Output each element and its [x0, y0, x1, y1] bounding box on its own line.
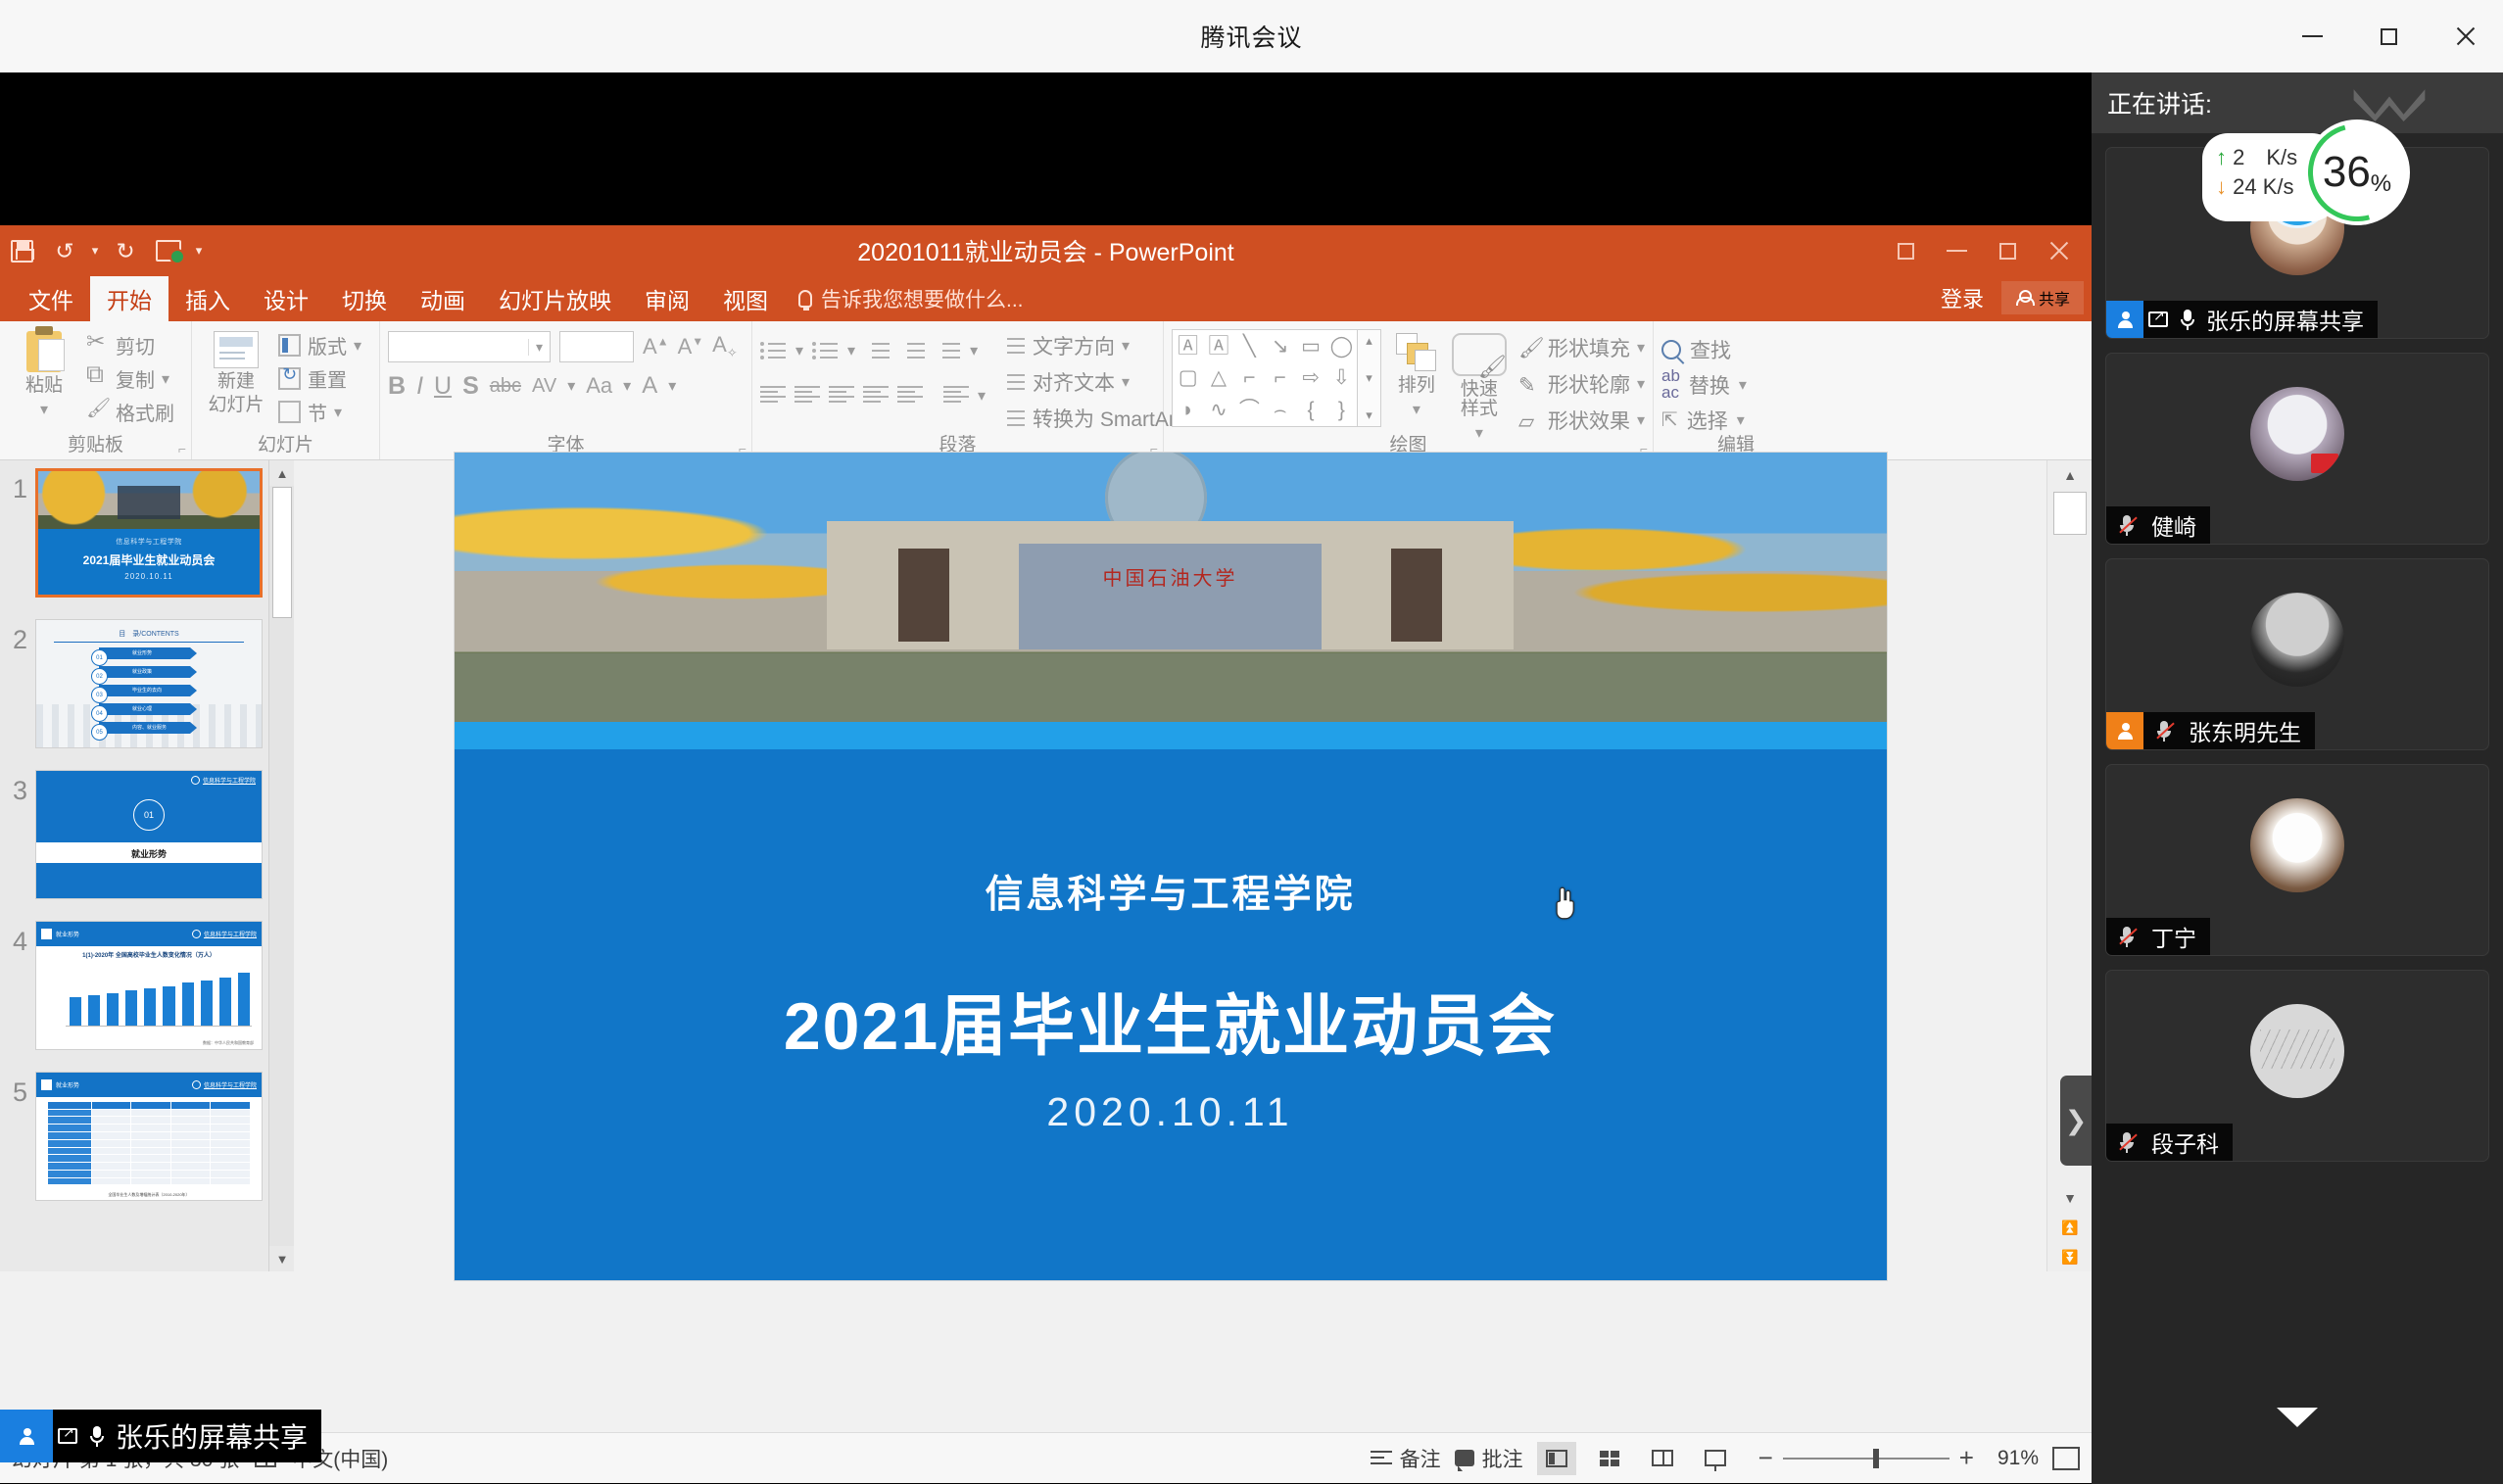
scrollbar-thumb[interactable]: [2053, 492, 2087, 535]
tell-me-search[interactable]: 告诉我您想要做什么...: [785, 276, 1037, 321]
participant-name: 段子科: [2147, 1125, 2233, 1159]
shape-vertical-textbox-icon[interactable]: 🄰: [1208, 336, 1228, 357]
cursor-icon: ⇱: [1661, 407, 1678, 432]
increase-font-size-button[interactable]: A▲: [643, 334, 669, 359]
close-icon: [2047, 240, 2069, 262]
host-badge: [2106, 301, 2143, 338]
ribbon-group-editing: 查找 abac 替换 ▾ ⇱ 选择 ▾: [1654, 321, 1818, 459]
arrange-button[interactable]: 排列 ▾: [1393, 329, 1440, 419]
maximize-button[interactable]: [2350, 0, 2427, 72]
person-add-icon: [2015, 290, 2031, 306]
layout-icon: [278, 334, 301, 357]
chevron-up-icon: ▲: [276, 466, 289, 481]
microphone-muted-icon: [2157, 721, 2171, 742]
save-button[interactable]: [0, 225, 43, 276]
section-label: 节: [308, 398, 327, 426]
chevron-down-icon[interactable]: ▾: [978, 386, 986, 406]
font-color-button[interactable]: A: [642, 372, 657, 400]
section-caption: 就业形势: [36, 847, 262, 860]
bar: [219, 978, 231, 1026]
thumbnail-slide-1[interactable]: 信息科学与工程学院 2021届毕业生就业动员会 2020.10.11: [35, 468, 263, 598]
tab-animations[interactable]: 动画: [404, 276, 482, 321]
line-spacing-icon[interactable]: [935, 340, 961, 362]
chevron-down-icon: [2277, 1408, 2318, 1427]
ring-icon: [192, 930, 201, 938]
decrease-indent-icon[interactable]: [864, 340, 890, 362]
zoom-handle[interactable]: [1873, 1449, 1879, 1468]
share-label: 共享: [2039, 286, 2070, 310]
scroll-up-button[interactable]: ▲: [2047, 460, 2092, 490]
decrease-font-size-button[interactable]: A▼: [678, 334, 704, 359]
find-button[interactable]: 查找: [1661, 333, 1747, 365]
mic-indicator: [2106, 515, 2147, 536]
microphone-muted-icon: [2120, 1132, 2134, 1153]
participant-namebar: 张乐的屏幕共享: [2106, 301, 2378, 338]
chevron-down-icon[interactable]: ▾: [567, 376, 575, 396]
font-name-input[interactable]: ▾: [388, 331, 551, 362]
agenda-bar: 就业形势: [99, 647, 197, 659]
fit-to-window-button[interactable]: [2052, 1447, 2080, 1470]
bar: [201, 981, 213, 1027]
ring-icon: [191, 776, 200, 785]
shape-down-arrow-icon[interactable]: ⇩: [1333, 367, 1351, 388]
thumbnail-row-1[interactable]: 1 信息科学与工程学院 2021届毕业生就业动员会 2020.10.11: [0, 460, 294, 598]
character-spacing-button[interactable]: AV: [532, 375, 556, 398]
quick-styles-label: 快速样式: [1452, 380, 1507, 419]
chevron-down-icon[interactable]: ▾: [795, 341, 803, 360]
align-center-icon[interactable]: [794, 385, 820, 407]
chart-title: 1(1)-2020年 全国高校毕业生人数变化情况（万人）: [36, 950, 262, 959]
thumbnail-row-5[interactable]: 5 就业形势 信息科学与工程学院: [0, 1050, 294, 1201]
window-controls: [2274, 0, 2503, 72]
scrollbar-thumb[interactable]: [272, 487, 292, 618]
ppt-minimize-button[interactable]: [1931, 225, 1982, 276]
shapes-gallery-scroll[interactable]: ▴ ▾ ▾: [1358, 329, 1381, 427]
bar: [238, 973, 250, 1027]
scroll-bottom-buttons[interactable]: ▼ ⏫ ⏬: [2047, 1183, 2092, 1271]
replace-label: 替换: [1689, 370, 1730, 400]
columns-icon[interactable]: [943, 385, 969, 407]
participant-tile-2[interactable]: 健崎: [2105, 353, 2489, 545]
thumbnail-number: 5: [6, 1072, 27, 1108]
ribbon-display-options-button[interactable]: [1880, 225, 1931, 276]
ribbon-group-paragraph: ▾ ▾ ▾: [752, 321, 1164, 459]
thumbnail-slide-2[interactable]: 目 录/CONTENTS 就业形势 01 就业政策 02 毕业生的去向 03 就…: [35, 619, 263, 748]
increase-indent-icon[interactable]: [899, 340, 926, 362]
person-icon: [2117, 723, 2134, 740]
data-table: [48, 1102, 250, 1185]
slide-date: 2020.10.11: [455, 1089, 1887, 1135]
participant-namebar: 丁宁: [2106, 918, 2210, 955]
chevron-down-icon[interactable]: ▾: [668, 376, 676, 396]
scroll-down-button[interactable]: ▼: [2047, 1183, 2092, 1213]
redo-icon: ↻: [116, 238, 134, 264]
tab-transitions[interactable]: 切换: [325, 276, 404, 321]
ppt-close-button[interactable]: [2033, 225, 2084, 276]
cut-button[interactable]: 剪切: [86, 329, 174, 361]
comments-label: 批注: [1482, 1444, 1523, 1473]
chevron-down-icon[interactable]: ▾: [623, 376, 631, 396]
speaking-header: 正在讲话:: [2092, 72, 2503, 133]
share-screen-icon: [58, 1428, 77, 1444]
agenda-bar: 毕业生的去向: [99, 685, 197, 696]
thumbnail-slide-3[interactable]: 信息科学与工程学院 01 就业形势: [35, 770, 263, 899]
clipboard-dialog-launcher[interactable]: ⌐: [178, 441, 186, 456]
paintbrush-icon: [86, 401, 109, 423]
slide-header: 就业形势 信息科学与工程学院: [36, 922, 262, 946]
participant-namebar: 段子科: [2106, 1124, 2233, 1161]
participant-name: 张乐的屏幕共享: [2202, 303, 2378, 336]
tab-view[interactable]: 视图: [706, 276, 785, 321]
zoom-in-button[interactable]: +: [1949, 1443, 1984, 1473]
bar: [125, 990, 137, 1026]
participant-tile-4[interactable]: 丁宁: [2105, 764, 2489, 956]
tab-home[interactable]: 开始: [90, 276, 168, 321]
italic-button[interactable]: I: [416, 372, 423, 401]
microphone-icon: [2181, 310, 2194, 330]
zoom-slider[interactable]: − +: [1749, 1443, 1984, 1473]
download-value: 24 K/s: [2233, 174, 2293, 199]
shape-fill-label: 形状填充: [1548, 333, 1630, 362]
shape-pie-icon[interactable]: ◗: [1181, 400, 1194, 420]
shape-outline-button[interactable]: ✎ 形状轮廓 ▾: [1518, 367, 1645, 401]
text-shadow-button[interactable]: S: [462, 372, 479, 401]
tab-insert[interactable]: 插入: [168, 276, 247, 321]
document-title: 20201011就业动员会 - PowerPoint: [0, 225, 2092, 276]
shape-rectangle-icon[interactable]: ▭: [1301, 336, 1321, 357]
chevron-down-icon: ▾: [1413, 400, 1420, 419]
shape-ellipse-icon[interactable]: ◯: [1330, 336, 1354, 357]
agenda-number: 03: [91, 687, 108, 703]
shape-arc-icon[interactable]: ⌒: [1239, 400, 1260, 420]
align-left-icon[interactable]: [760, 385, 786, 407]
new-slide-button[interactable]: 新建 幻灯片: [200, 327, 272, 415]
host-badge: [0, 1410, 53, 1462]
section-button[interactable]: 节 ▾: [278, 396, 361, 428]
thumbnail-slide-5[interactable]: 就业形势 信息科学与工程学院: [35, 1072, 263, 1201]
slide-show-button[interactable]: [1696, 1442, 1735, 1475]
thumbnail-row-3[interactable]: 3 信息科学与工程学院 01 就业形势: [0, 748, 294, 899]
chevron-down-icon[interactable]: ▾: [847, 341, 855, 360]
copy-label: 复制: [116, 364, 155, 393]
bar: [182, 982, 194, 1026]
more-participants-button[interactable]: [2092, 1408, 2503, 1427]
shape-outline-label: 形状轮廓: [1548, 369, 1630, 399]
chevron-down-icon: ▾: [1637, 374, 1645, 394]
sign-in-button[interactable]: 登录: [1927, 277, 1998, 318]
bar: [144, 988, 156, 1027]
undo-dropdown[interactable]: ▾: [86, 225, 104, 276]
shape-right-brace-icon[interactable]: }: [1338, 400, 1345, 420]
thumb-date: 2020.10.11: [38, 572, 260, 581]
left-tower: [898, 549, 949, 642]
new-slide-label-1: 新建: [217, 372, 255, 392]
screen-share-indicator: [2143, 311, 2173, 327]
chevron-right-icon: ❯: [2065, 1106, 2088, 1136]
shape-elbow-arrow-icon[interactable]: ⌐: [1275, 367, 1286, 388]
replace-icon: abac: [1661, 368, 1680, 400]
slide-show-icon: [1705, 1450, 1726, 1466]
slide-canvas[interactable]: 中国石油大学 信息科学与工程学院 2021届毕业生就业动员会 2020.10.1…: [294, 460, 2046, 1271]
shape-arrow-icon[interactable]: ↘: [1272, 336, 1289, 357]
participant-namebar: 张东明先生: [2106, 712, 2315, 749]
table-slide: 就业形势 信息科学与工程学院: [36, 1073, 262, 1200]
status-right[interactable]: 备注 批注 − + 91%: [1371, 1442, 2092, 1475]
slide-header: 就业形势 信息科学与工程学院: [36, 1073, 262, 1097]
chevron-down-icon: ▾: [1637, 410, 1645, 430]
chevron-down-icon[interactable]: ▾: [528, 339, 550, 356]
chevron-up-icon: ▲: [2063, 467, 2077, 483]
college-logo: 信息科学与工程学院: [192, 1080, 257, 1089]
logo-text: 信息科学与工程学院: [204, 930, 257, 938]
thumbnail-number: 1: [6, 468, 27, 504]
thumbnail-row-4[interactable]: 4 就业形势 信息科学与工程学院: [0, 899, 294, 1050]
thumbnail-slide-4[interactable]: 就业形势 信息科学与工程学院 1(1)-2020年 全国高校毕业生人数变化情况（…: [35, 921, 263, 1050]
download-arrow-icon: ↓: [2216, 174, 2227, 199]
minimize-button[interactable]: [2274, 0, 2350, 72]
shape-line-icon[interactable]: ╲: [1243, 336, 1256, 357]
shapes-gallery[interactable]: 🄰 🄰 ╲ ↘ ▭ ◯ ▢ △ ⌐ ⌐ ⇨: [1172, 329, 1358, 427]
chevron-down-icon: ▾: [1122, 372, 1130, 392]
thumbnail-row-2[interactable]: 2 目 录/CONTENTS 就业形势 01 就业政策 02 毕业生的去向: [0, 598, 294, 748]
avatar: [2250, 387, 2344, 481]
ring-icon: [192, 1080, 201, 1089]
participants-rail[interactable]: 正在讲话: 01:39 张乐的屏幕共享 健崎: [2092, 72, 2503, 1484]
chevron-down-icon: ▾: [1737, 410, 1745, 430]
comments-button[interactable]: 批注: [1455, 1444, 1523, 1473]
microphone-icon: [90, 1426, 104, 1447]
group-title-slides: 幻灯片: [192, 430, 379, 456]
slide-thumbnail-pane[interactable]: 1 信息科学与工程学院 2021届毕业生就业动员会 2020.10.11 2: [0, 460, 294, 1271]
agenda-bar: 就业政策: [99, 666, 197, 678]
powerpoint-window-controls: [1880, 225, 2084, 276]
thumbnail-number: 3: [6, 770, 27, 806]
arrange-icon: [1396, 333, 1437, 372]
agenda-slide: 目 录/CONTENTS 就业形势 01 就业政策 02 毕业生的去向 03 就…: [36, 620, 262, 747]
distribute-icon[interactable]: [897, 385, 923, 407]
chevron-down-icon: ▾: [354, 336, 361, 356]
ppt-restore-button[interactable]: [1982, 225, 2033, 276]
quick-access-toolbar[interactable]: ↺ ▾ ↻ ▾ 20201011就业动员会 - PowerPoint: [0, 225, 2092, 276]
divider: [54, 642, 244, 643]
smartart-icon: [999, 407, 1026, 430]
avatar: [2250, 1004, 2344, 1098]
paste-button[interactable]: 粘贴 ▾: [8, 327, 80, 419]
upload-value: 2 K/s: [2233, 145, 2297, 169]
campus-photo: [38, 471, 260, 529]
change-case-button[interactable]: Aa: [586, 373, 612, 399]
meeting-title-bar: 腾讯会议: [0, 0, 2503, 72]
collapse-panel-handle[interactable]: ❯: [2060, 1076, 2092, 1166]
shape-rounded-rect-icon[interactable]: ▢: [1179, 367, 1198, 388]
agenda-label: 毕业生的去向: [132, 687, 162, 694]
undo-icon: ↺: [55, 238, 73, 264]
gallery-expand-icon[interactable]: ▾: [1366, 407, 1372, 423]
cpu-unit: %: [2371, 170, 2391, 198]
bullets-icon[interactable]: [760, 340, 787, 362]
bold-button[interactable]: B: [388, 372, 406, 401]
shape-fill-button[interactable]: 🖌 形状填充 ▾: [1518, 331, 1645, 364]
avatar: [2250, 798, 2344, 892]
normal-view-button[interactable]: [1537, 1442, 1576, 1475]
share-button[interactable]: 共享: [2001, 281, 2084, 314]
paste-label: 粘贴: [25, 376, 63, 396]
chevron-down-icon: ▾: [92, 243, 99, 259]
justify-icon[interactable]: [863, 385, 889, 407]
clear-formatting-button[interactable]: A✧: [712, 332, 738, 360]
chart-source: 数据：中华人民共和国教育部: [203, 1040, 254, 1046]
shape-textbox-icon[interactable]: 🄰: [1178, 336, 1198, 357]
clipboard-icon: [26, 331, 62, 372]
tell-me-placeholder: 告诉我您想要做什么...: [821, 284, 1024, 313]
scroll-down-icon[interactable]: ▾: [1366, 370, 1372, 386]
shape-triangle-icon[interactable]: △: [1211, 367, 1227, 388]
start-presentation-icon: [156, 240, 181, 262]
thumb-title: 2021届毕业生就业动员会: [38, 551, 260, 568]
participant-tile-3[interactable]: 张东明先生: [2105, 558, 2489, 750]
shared-screen-stage[interactable]: ↺ ▾ ↻ ▾ 20201011就业动员会 - PowerPoint 文件 开始…: [0, 72, 2092, 1484]
align-right-icon[interactable]: [829, 385, 854, 407]
agenda-label: 就业心理: [132, 705, 152, 712]
thumbnail-number: 4: [6, 921, 27, 957]
tab-slideshow[interactable]: 幻灯片放映: [482, 276, 628, 321]
notes-button[interactable]: 备注: [1371, 1444, 1441, 1473]
ribbon[interactable]: 粘贴 ▾ 剪切 复制 ▾: [0, 321, 2092, 460]
app-title: 腾讯会议: [1200, 19, 1302, 54]
bar-chart-plot: [70, 963, 250, 1027]
agenda-number: 02: [91, 668, 108, 685]
mic-indicator: [2106, 1132, 2147, 1153]
reading-view-icon: [1652, 1450, 1673, 1466]
slide-title: 2021届毕业生就业动员会: [455, 972, 1887, 1069]
sharer-label: 张乐的屏幕共享: [0, 1410, 321, 1462]
start-presentation-button[interactable]: [147, 225, 190, 276]
sharer-name: 张乐的屏幕共享: [112, 1416, 321, 1456]
new-slide-icon: [214, 331, 259, 368]
agenda-number: 01: [91, 649, 108, 666]
double-chevron-down-icon: ⏬: [2061, 1249, 2078, 1266]
tab-review[interactable]: 审阅: [628, 276, 706, 321]
shape-left-brace-icon[interactable]: {: [1307, 400, 1314, 420]
zoom-level[interactable]: 91%: [1998, 1447, 2039, 1470]
logo-text: 信息科学与工程学院: [204, 1080, 257, 1089]
redo-button[interactable]: ↻: [104, 225, 147, 276]
layout-button[interactable]: 版式 ▾: [278, 329, 361, 361]
ribbon-group-font: ▾ A▲ A▼ A✧ B I U: [380, 321, 752, 459]
agenda-number: 05: [91, 724, 108, 741]
bar: [70, 997, 81, 1027]
chevron-down-icon[interactable]: ▾: [970, 341, 978, 360]
replace-button[interactable]: abac 替换 ▾: [1661, 368, 1747, 401]
powerpoint-window[interactable]: ↺ ▾ ↻ ▾ 20201011就业动员会 - PowerPoint 文件 开始…: [0, 225, 2092, 1483]
bar: [163, 986, 174, 1027]
format-painter-button[interactable]: 格式刷: [86, 396, 174, 428]
chevron-down-icon: ▾: [162, 369, 169, 389]
chevron-down-icon: ▼: [276, 1252, 289, 1267]
quick-styles-icon: [1452, 333, 1507, 376]
current-slide[interactable]: 中国石油大学 信息科学与工程学院 2021届毕业生就业动员会 2020.10.1…: [455, 453, 1887, 1280]
strikethrough-button[interactable]: abc: [490, 375, 521, 398]
double-chevron-up-icon: ⏫: [2061, 1220, 2078, 1236]
shape-right-arrow-icon[interactable]: ⇨: [1302, 367, 1320, 388]
flag-icon: [41, 1079, 52, 1090]
college-logo: 信息科学与工程学院: [192, 930, 257, 938]
shape-elbow-connector-icon[interactable]: ⌐: [1243, 367, 1255, 388]
slide-sorter-icon: [1600, 1451, 1619, 1466]
previous-slide-button[interactable]: ⏫: [2047, 1213, 2092, 1242]
minimize-icon: [1947, 250, 1967, 252]
mic-indicator: [2143, 721, 2185, 742]
font-size-input[interactable]: [559, 331, 634, 362]
share-screen-icon: [2148, 311, 2168, 327]
normal-view-icon: [1546, 1450, 1567, 1467]
campus-photo: 中国石油大学: [455, 453, 1887, 722]
close-button[interactable]: [2427, 0, 2503, 72]
format-painter-label: 格式刷: [116, 398, 174, 426]
undo-button[interactable]: ↺: [43, 225, 86, 276]
participant-namebar: 健崎: [2106, 506, 2210, 544]
scroll-up-button[interactable]: ▲: [269, 460, 294, 486]
upload-arrow-icon: ↑: [2216, 145, 2227, 169]
customize-qat-button[interactable]: ▾: [190, 225, 208, 276]
microphone-muted-icon: [2120, 927, 2134, 947]
reading-view-button[interactable]: [1643, 1442, 1682, 1475]
find-label: 查找: [1690, 335, 1731, 364]
participant-name: 丁宁: [2147, 920, 2210, 953]
numbering-icon[interactable]: [812, 340, 839, 362]
editing-area[interactable]: 1 信息科学与工程学院 2021届毕业生就业动员会 2020.10.11 2: [0, 460, 2092, 1271]
participant-tile-5[interactable]: 段子科: [2105, 970, 2489, 1162]
scroll-up-icon[interactable]: ▴: [1366, 333, 1372, 349]
shape-curve-icon[interactable]: ⌢: [1274, 400, 1287, 420]
chevron-down-icon: ▾: [1739, 375, 1747, 395]
tab-file[interactable]: 文件: [12, 276, 90, 321]
bottom-band: [36, 863, 262, 898]
tab-design[interactable]: 设计: [247, 276, 325, 321]
chevron-down-icon: ▾: [40, 400, 48, 419]
section-slide: 信息科学与工程学院 01 就业形势: [36, 771, 262, 898]
zoom-track[interactable]: [1783, 1458, 1949, 1460]
zoom-out-button[interactable]: −: [1749, 1443, 1783, 1473]
account-area[interactable]: 登录 共享: [1927, 277, 2084, 318]
next-slide-button[interactable]: ⏬: [2047, 1242, 2092, 1271]
reset-button[interactable]: 重置: [278, 362, 361, 395]
thumbnail-scrollbar[interactable]: ▲ ▼: [268, 460, 294, 1271]
underline-button[interactable]: U: [434, 372, 452, 401]
logo-text: 信息科学与工程学院: [203, 776, 256, 785]
section-icon: [278, 401, 301, 423]
right-tower: [1391, 549, 1442, 642]
person-icon: [2117, 311, 2134, 328]
maximize-icon: [2381, 28, 2397, 45]
quick-styles-button[interactable]: 快速样式 ▾: [1452, 329, 1507, 443]
close-icon: [2454, 25, 2476, 47]
person-icon: [19, 1428, 35, 1445]
ribbon-tab-bar[interactable]: 文件 开始 插入 设计 切换 动画 幻灯片放映 审阅 视图 告诉我您想要做什么.…: [0, 276, 2092, 321]
comment-icon: [1455, 1450, 1474, 1466]
chevron-down-icon: ▾: [334, 403, 342, 422]
restore-icon: [1999, 243, 2016, 260]
shape-freeform-icon[interactable]: ∿: [1210, 400, 1227, 420]
mic-indicator: [82, 1426, 112, 1447]
chevron-down-icon: ▾: [1637, 338, 1645, 358]
copy-button[interactable]: 复制 ▾: [86, 362, 174, 395]
mic-indicator: [2106, 927, 2147, 947]
scroll-down-button[interactable]: ▼: [269, 1246, 294, 1271]
scissors-icon: [86, 334, 109, 357]
thumbnail-number: 2: [6, 619, 27, 655]
slide-sorter-button[interactable]: [1590, 1442, 1629, 1475]
